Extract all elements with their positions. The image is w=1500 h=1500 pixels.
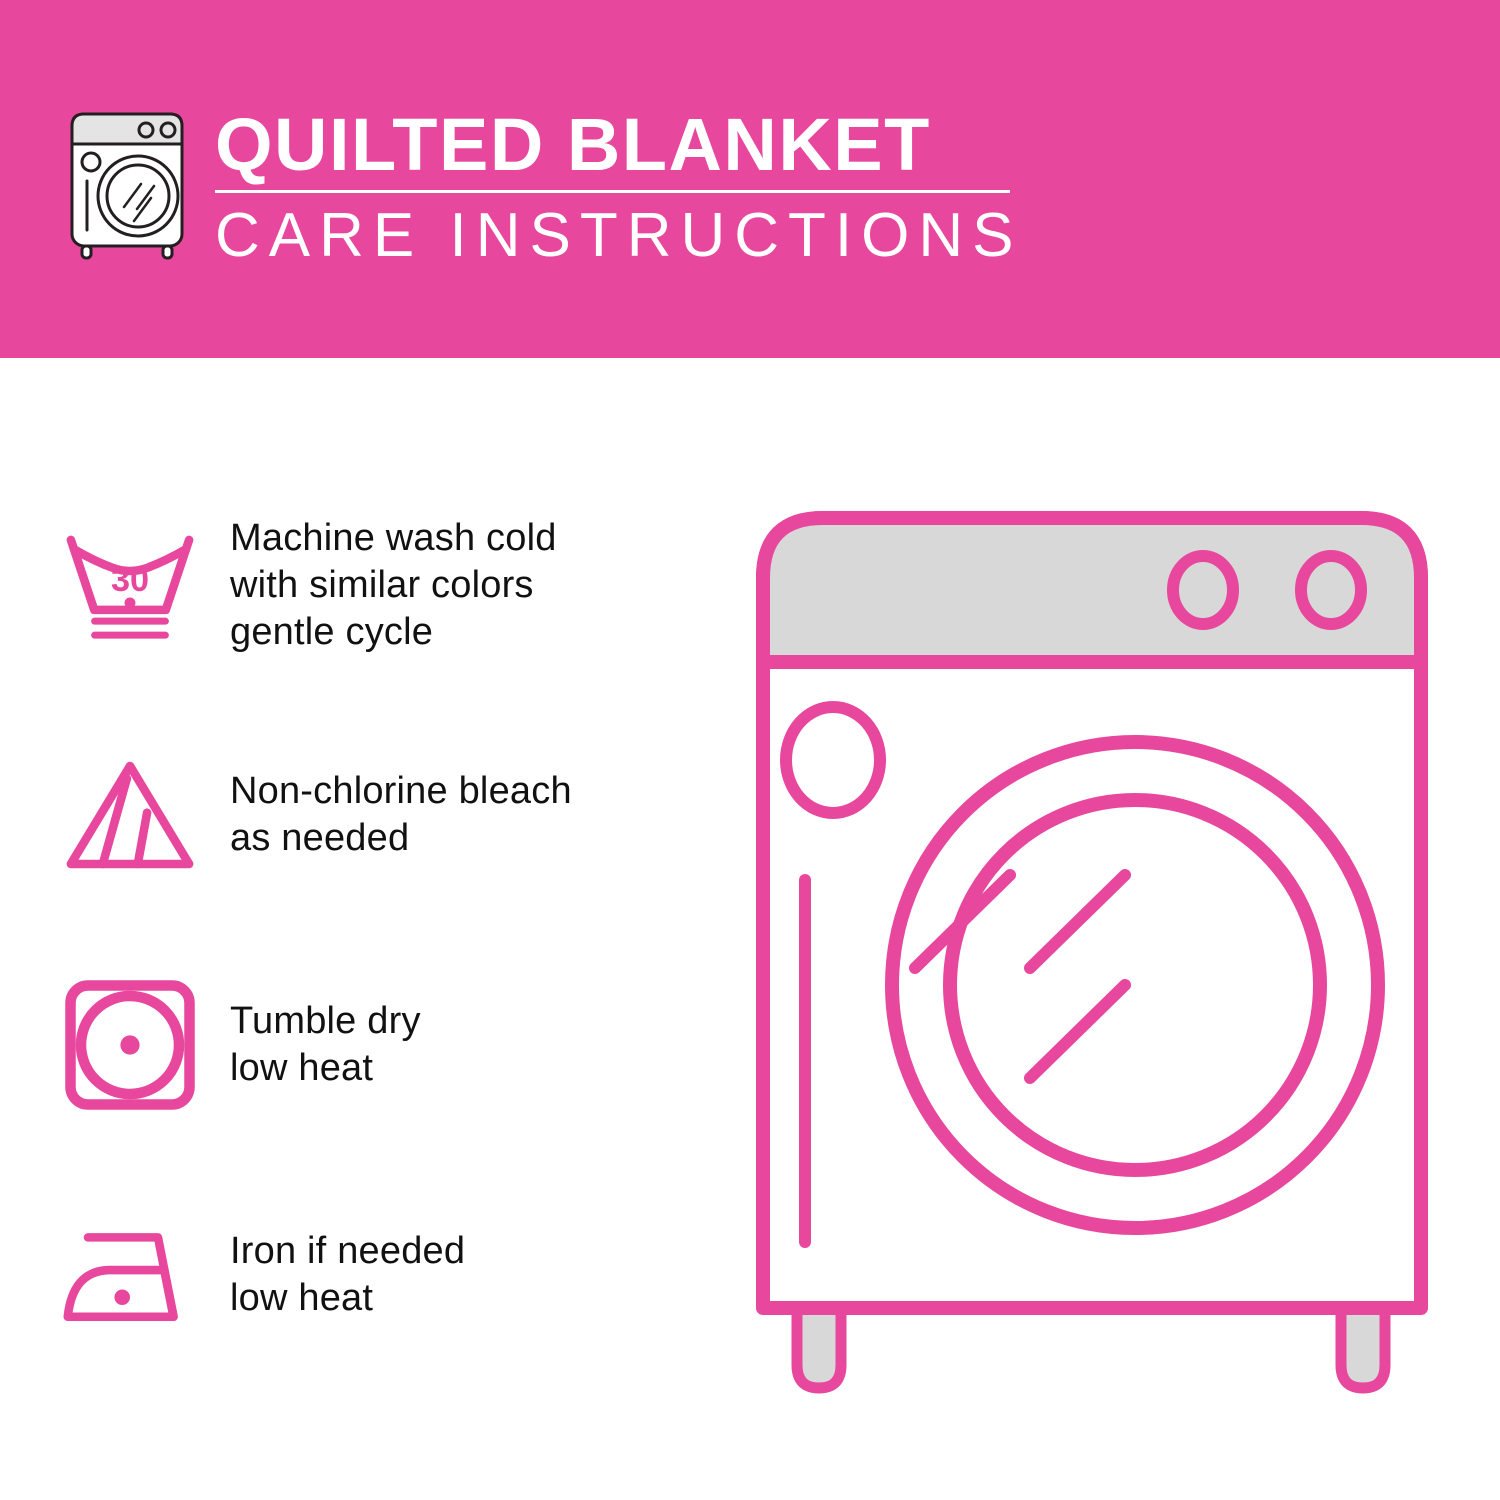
care-label-tumble-dry: Tumble dry low heat xyxy=(200,998,421,1092)
care-row-bleach: Non-chlorine bleach as needed xyxy=(0,700,720,930)
care-label-line: Iron if needed xyxy=(230,1228,465,1275)
care-row-iron: Iron if needed low heat xyxy=(0,1160,720,1390)
wash-temperature-value: 30 xyxy=(111,561,149,599)
care-label-iron: Iron if needed low heat xyxy=(200,1228,465,1322)
care-label-bleach: Non-chlorine bleach as needed xyxy=(200,768,572,862)
washing-machine-icon xyxy=(62,108,192,260)
care-instruction-list: 30 Machine wash cold with similar colors… xyxy=(0,470,720,1390)
care-row-wash: 30 Machine wash cold with similar colors… xyxy=(0,470,720,700)
care-label-line: as needed xyxy=(230,815,572,862)
tumble-dry-icon xyxy=(0,950,200,1140)
care-label-line: Tumble dry xyxy=(230,998,421,1045)
care-label-line: low heat xyxy=(230,1275,465,1322)
care-row-tumble-dry: Tumble dry low heat xyxy=(0,930,720,1160)
care-label-wash: Machine wash cold with similar colors ge… xyxy=(200,515,557,656)
care-label-line: Machine wash cold xyxy=(230,515,557,562)
care-label-line: with similar colors xyxy=(230,562,557,609)
care-instructions-infographic: QUILTED BLANKET CARE INSTRUCTIONS 30 xyxy=(0,0,1500,1500)
iron-icon xyxy=(0,1180,200,1370)
wash-tub-30-icon: 30 xyxy=(0,490,200,680)
care-label-line: gentle cycle xyxy=(230,609,557,656)
care-label-line: low heat xyxy=(230,1045,421,1092)
header-banner: QUILTED BLANKET CARE INSTRUCTIONS xyxy=(0,0,1500,358)
page-title: QUILTED BLANKET xyxy=(215,104,1055,186)
page-subtitle: CARE INSTRUCTIONS xyxy=(215,199,1055,273)
care-label-line: Non-chlorine bleach xyxy=(230,768,572,815)
title-divider xyxy=(215,190,1010,193)
washing-machine-illustration xyxy=(735,490,1465,1430)
header-text-block: QUILTED BLANKET CARE INSTRUCTIONS xyxy=(215,104,1055,273)
bleach-triangle-icon xyxy=(0,720,200,910)
top-panel xyxy=(763,518,1421,662)
